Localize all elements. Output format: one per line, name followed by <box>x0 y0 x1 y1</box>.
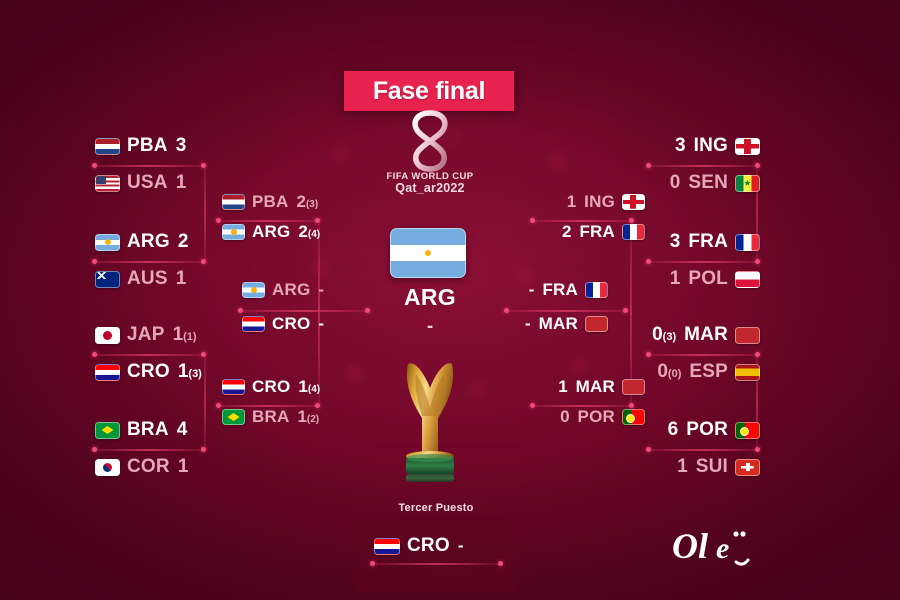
team-abbr: SEN <box>688 172 728 194</box>
team-penalty-score: (0) <box>668 368 681 380</box>
divider-line <box>648 449 758 451</box>
team-score: 0(3) <box>652 324 676 346</box>
connector-dot <box>498 561 503 566</box>
match-team-row: -MAR <box>0 314 608 334</box>
divider-line <box>648 165 758 167</box>
team-abbr: ING <box>584 192 615 212</box>
team-abbr: FRA <box>579 222 615 242</box>
connector-dot <box>92 447 97 452</box>
team-score: 1 <box>567 192 576 212</box>
team-abbr: MAR <box>684 324 728 346</box>
match-team-row: 0SEN <box>0 172 760 194</box>
divider-line <box>372 563 500 565</box>
flag-icon <box>622 409 645 425</box>
page-title-banner: Fase final <box>344 71 514 111</box>
connector-dot <box>623 308 628 313</box>
team-score: 3 <box>670 231 681 253</box>
flag-icon <box>735 459 760 476</box>
team-score: 2 <box>562 222 571 242</box>
flag-icon <box>585 316 608 332</box>
flag-icon <box>735 175 760 192</box>
third-place-label: Tercer Puesto <box>356 502 516 514</box>
flag-icon <box>622 379 645 395</box>
flag-icon <box>735 271 760 288</box>
team-score: 3 <box>675 135 686 157</box>
page-title: Fase final <box>373 77 485 106</box>
connector-dot <box>646 352 651 357</box>
team-abbr: POR <box>578 407 615 427</box>
svg-text:e: e <box>716 532 729 565</box>
team-score: - <box>529 280 535 300</box>
third-place-box: CRO - <box>356 519 516 593</box>
connector-dot <box>646 259 651 264</box>
match-team-row: 0POR <box>0 407 645 427</box>
connector-dot <box>238 308 243 313</box>
connector-dot <box>92 259 97 264</box>
divider-line <box>94 165 204 167</box>
connector-dot <box>646 447 651 452</box>
svg-text:Ol: Ol <box>672 526 708 566</box>
team-score: 6 <box>668 419 679 441</box>
team-penalty-score: (3) <box>663 331 676 343</box>
divider-line <box>506 310 626 312</box>
team-abbr: FRA <box>688 231 728 253</box>
divider-line <box>94 261 204 263</box>
match-team-row: 3ING <box>0 135 760 157</box>
third-place-team: CRO - <box>374 535 464 557</box>
team-abbr: ESP <box>689 361 728 383</box>
connector-dot <box>92 352 97 357</box>
team-score: 1 <box>558 377 567 397</box>
team-score: 1 <box>677 456 688 478</box>
match-team-row: 1MAR <box>0 377 645 397</box>
connector-dot <box>504 308 509 313</box>
flag-icon <box>585 282 608 298</box>
team-abbr: FRA <box>542 280 578 300</box>
team-abbr: MAR <box>539 314 578 334</box>
team-abbr: CRO <box>407 535 450 557</box>
team-score: - <box>458 536 464 556</box>
connector-dot <box>370 561 375 566</box>
team-score: - <box>525 314 531 334</box>
divider-line <box>94 354 204 356</box>
team-abbr: ING <box>694 135 728 157</box>
flag-icon <box>622 224 645 240</box>
divider-line <box>240 310 368 312</box>
team-abbr: POL <box>688 268 728 290</box>
match-team-row: 1ING <box>0 192 645 212</box>
team-score: 1 <box>670 268 681 290</box>
flag-icon <box>735 327 760 344</box>
divider-line <box>94 449 204 451</box>
team-abbr: MAR <box>576 377 615 397</box>
team-abbr: POR <box>686 419 728 441</box>
ole-brand-logo: Ol e <box>670 524 765 570</box>
team-abbr: SUI <box>696 456 728 478</box>
match-team-row: 1SUI <box>0 456 760 478</box>
match-team-row: 2FRA <box>0 222 645 242</box>
flag-icon <box>374 538 400 555</box>
team-score: 0 <box>670 172 681 194</box>
match-team-row: -FRA <box>0 280 608 300</box>
team-score: 0(0) <box>657 361 681 383</box>
divider-line <box>648 261 758 263</box>
flag-icon <box>735 422 760 439</box>
team-score: 0 <box>560 407 569 427</box>
flag-icon <box>735 364 760 381</box>
connector-dot <box>92 163 97 168</box>
connector-dot <box>646 163 651 168</box>
connector-dot <box>365 308 370 313</box>
flag-icon <box>622 194 645 210</box>
divider-line <box>648 354 758 356</box>
flag-icon <box>735 138 760 155</box>
flag-icon <box>735 234 760 251</box>
